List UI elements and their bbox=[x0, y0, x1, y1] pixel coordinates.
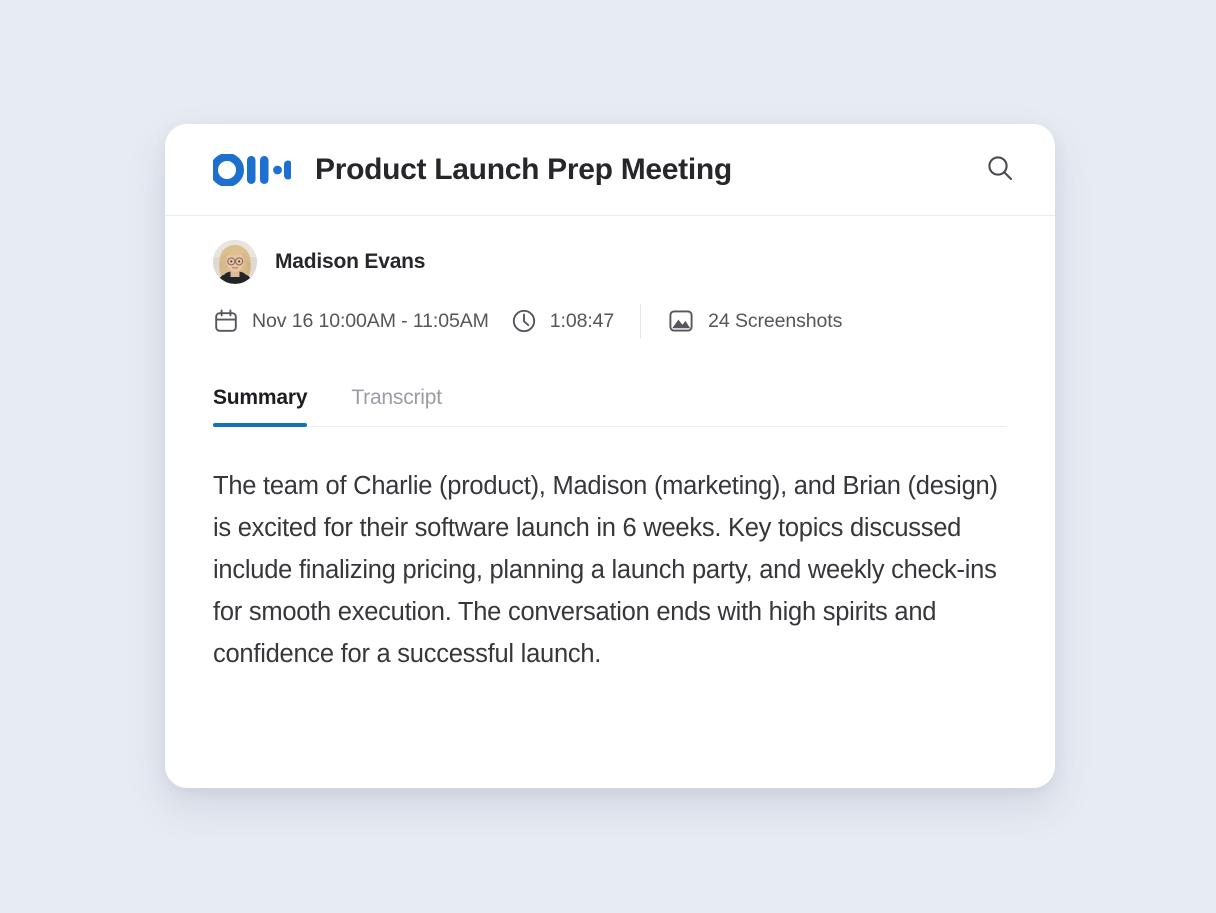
page-root: Product Launch Prep Meeting bbox=[0, 0, 1216, 913]
meeting-duration-text: 1:08:47 bbox=[550, 310, 614, 333]
clock-icon bbox=[511, 308, 537, 334]
otter-waveform-logo[interactable] bbox=[213, 154, 291, 186]
owner-name: Madison Evans bbox=[275, 250, 425, 274]
summary-text: The team of Charlie (product), Madison (… bbox=[213, 465, 1003, 675]
search-button[interactable] bbox=[979, 149, 1021, 191]
meeting-screenshots-text: 24 Screenshots bbox=[708, 310, 842, 333]
meta-divider bbox=[640, 304, 641, 338]
meeting-screenshots[interactable]: 24 Screenshots bbox=[667, 307, 842, 335]
meeting-duration: 1:08:47 bbox=[511, 308, 614, 334]
image-icon bbox=[667, 307, 695, 335]
meeting-meta: Nov 16 10:00AM - 11:05AM 1:08:47 bbox=[213, 304, 1007, 338]
content-tabs: Summary Transcript bbox=[213, 370, 1007, 427]
tab-summary[interactable]: Summary bbox=[213, 386, 307, 426]
avatar[interactable] bbox=[213, 240, 257, 284]
meeting-date: Nov 16 10:00AM - 11:05AM bbox=[213, 308, 489, 334]
card-header: Product Launch Prep Meeting bbox=[165, 124, 1055, 216]
owner-row: Madison Evans bbox=[213, 216, 1007, 284]
search-icon bbox=[985, 153, 1015, 186]
meeting-card: Product Launch Prep Meeting bbox=[165, 124, 1055, 788]
page-title: Product Launch Prep Meeting bbox=[315, 153, 979, 187]
card-body: Madison Evans Nov 16 10:00AM - 11:05AM bbox=[165, 216, 1055, 675]
calendar-icon bbox=[213, 308, 239, 334]
tab-transcript[interactable]: Transcript bbox=[351, 386, 442, 426]
meeting-date-text: Nov 16 10:00AM - 11:05AM bbox=[252, 310, 489, 333]
